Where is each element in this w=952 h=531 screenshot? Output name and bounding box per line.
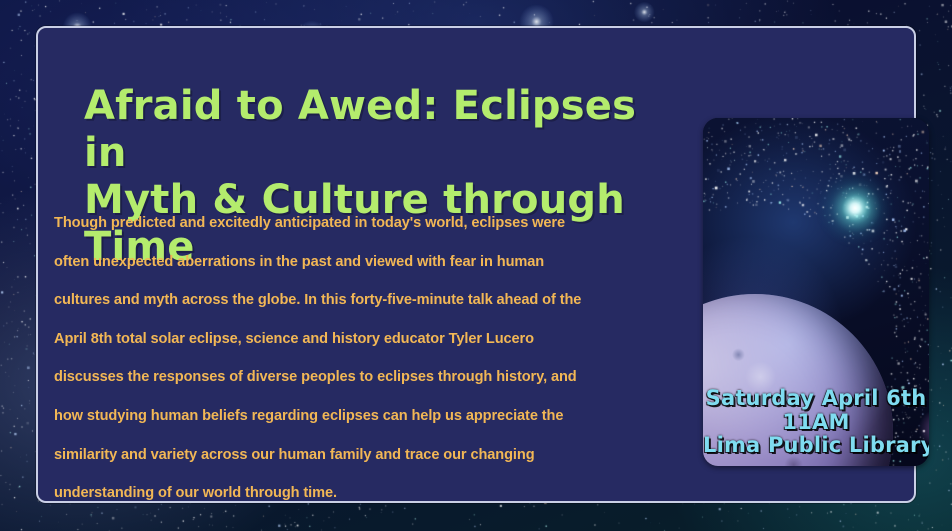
event-panel: Afraid to Awed: Eclipses in Myth & Cultu… <box>36 26 916 503</box>
description-line: understanding of our world through time. <box>54 474 674 513</box>
event-image-card: Saturday April 6th 11AM Lima Public Libr… <box>703 118 929 466</box>
description-line: discusses the responses of diverse peopl… <box>54 358 674 397</box>
event-location: Lima Public Library <box>703 434 929 458</box>
description-line: how studying human beliefs regarding ecl… <box>54 397 674 436</box>
event-details: Saturday April 6th 11AM Lima Public Libr… <box>703 387 929 458</box>
title-line-1: Afraid to Awed: Eclipses in <box>84 83 636 176</box>
description-line: cultures and myth across the globe. In t… <box>54 281 674 320</box>
description-line: Though predicted and excitedly anticipat… <box>54 204 674 243</box>
description-line: April 8th total solar eclipse, science a… <box>54 320 674 359</box>
description-line: similarity and variety across our human … <box>54 436 674 475</box>
event-date: Saturday April 6th <box>703 387 929 411</box>
event-time: 11AM <box>703 411 929 435</box>
poster-stage: Afraid to Awed: Eclipses in Myth & Cultu… <box>0 0 952 531</box>
description-line: often unexpected aberrations in the past… <box>54 243 674 282</box>
event-description: Though predicted and excitedly anticipat… <box>54 204 674 513</box>
